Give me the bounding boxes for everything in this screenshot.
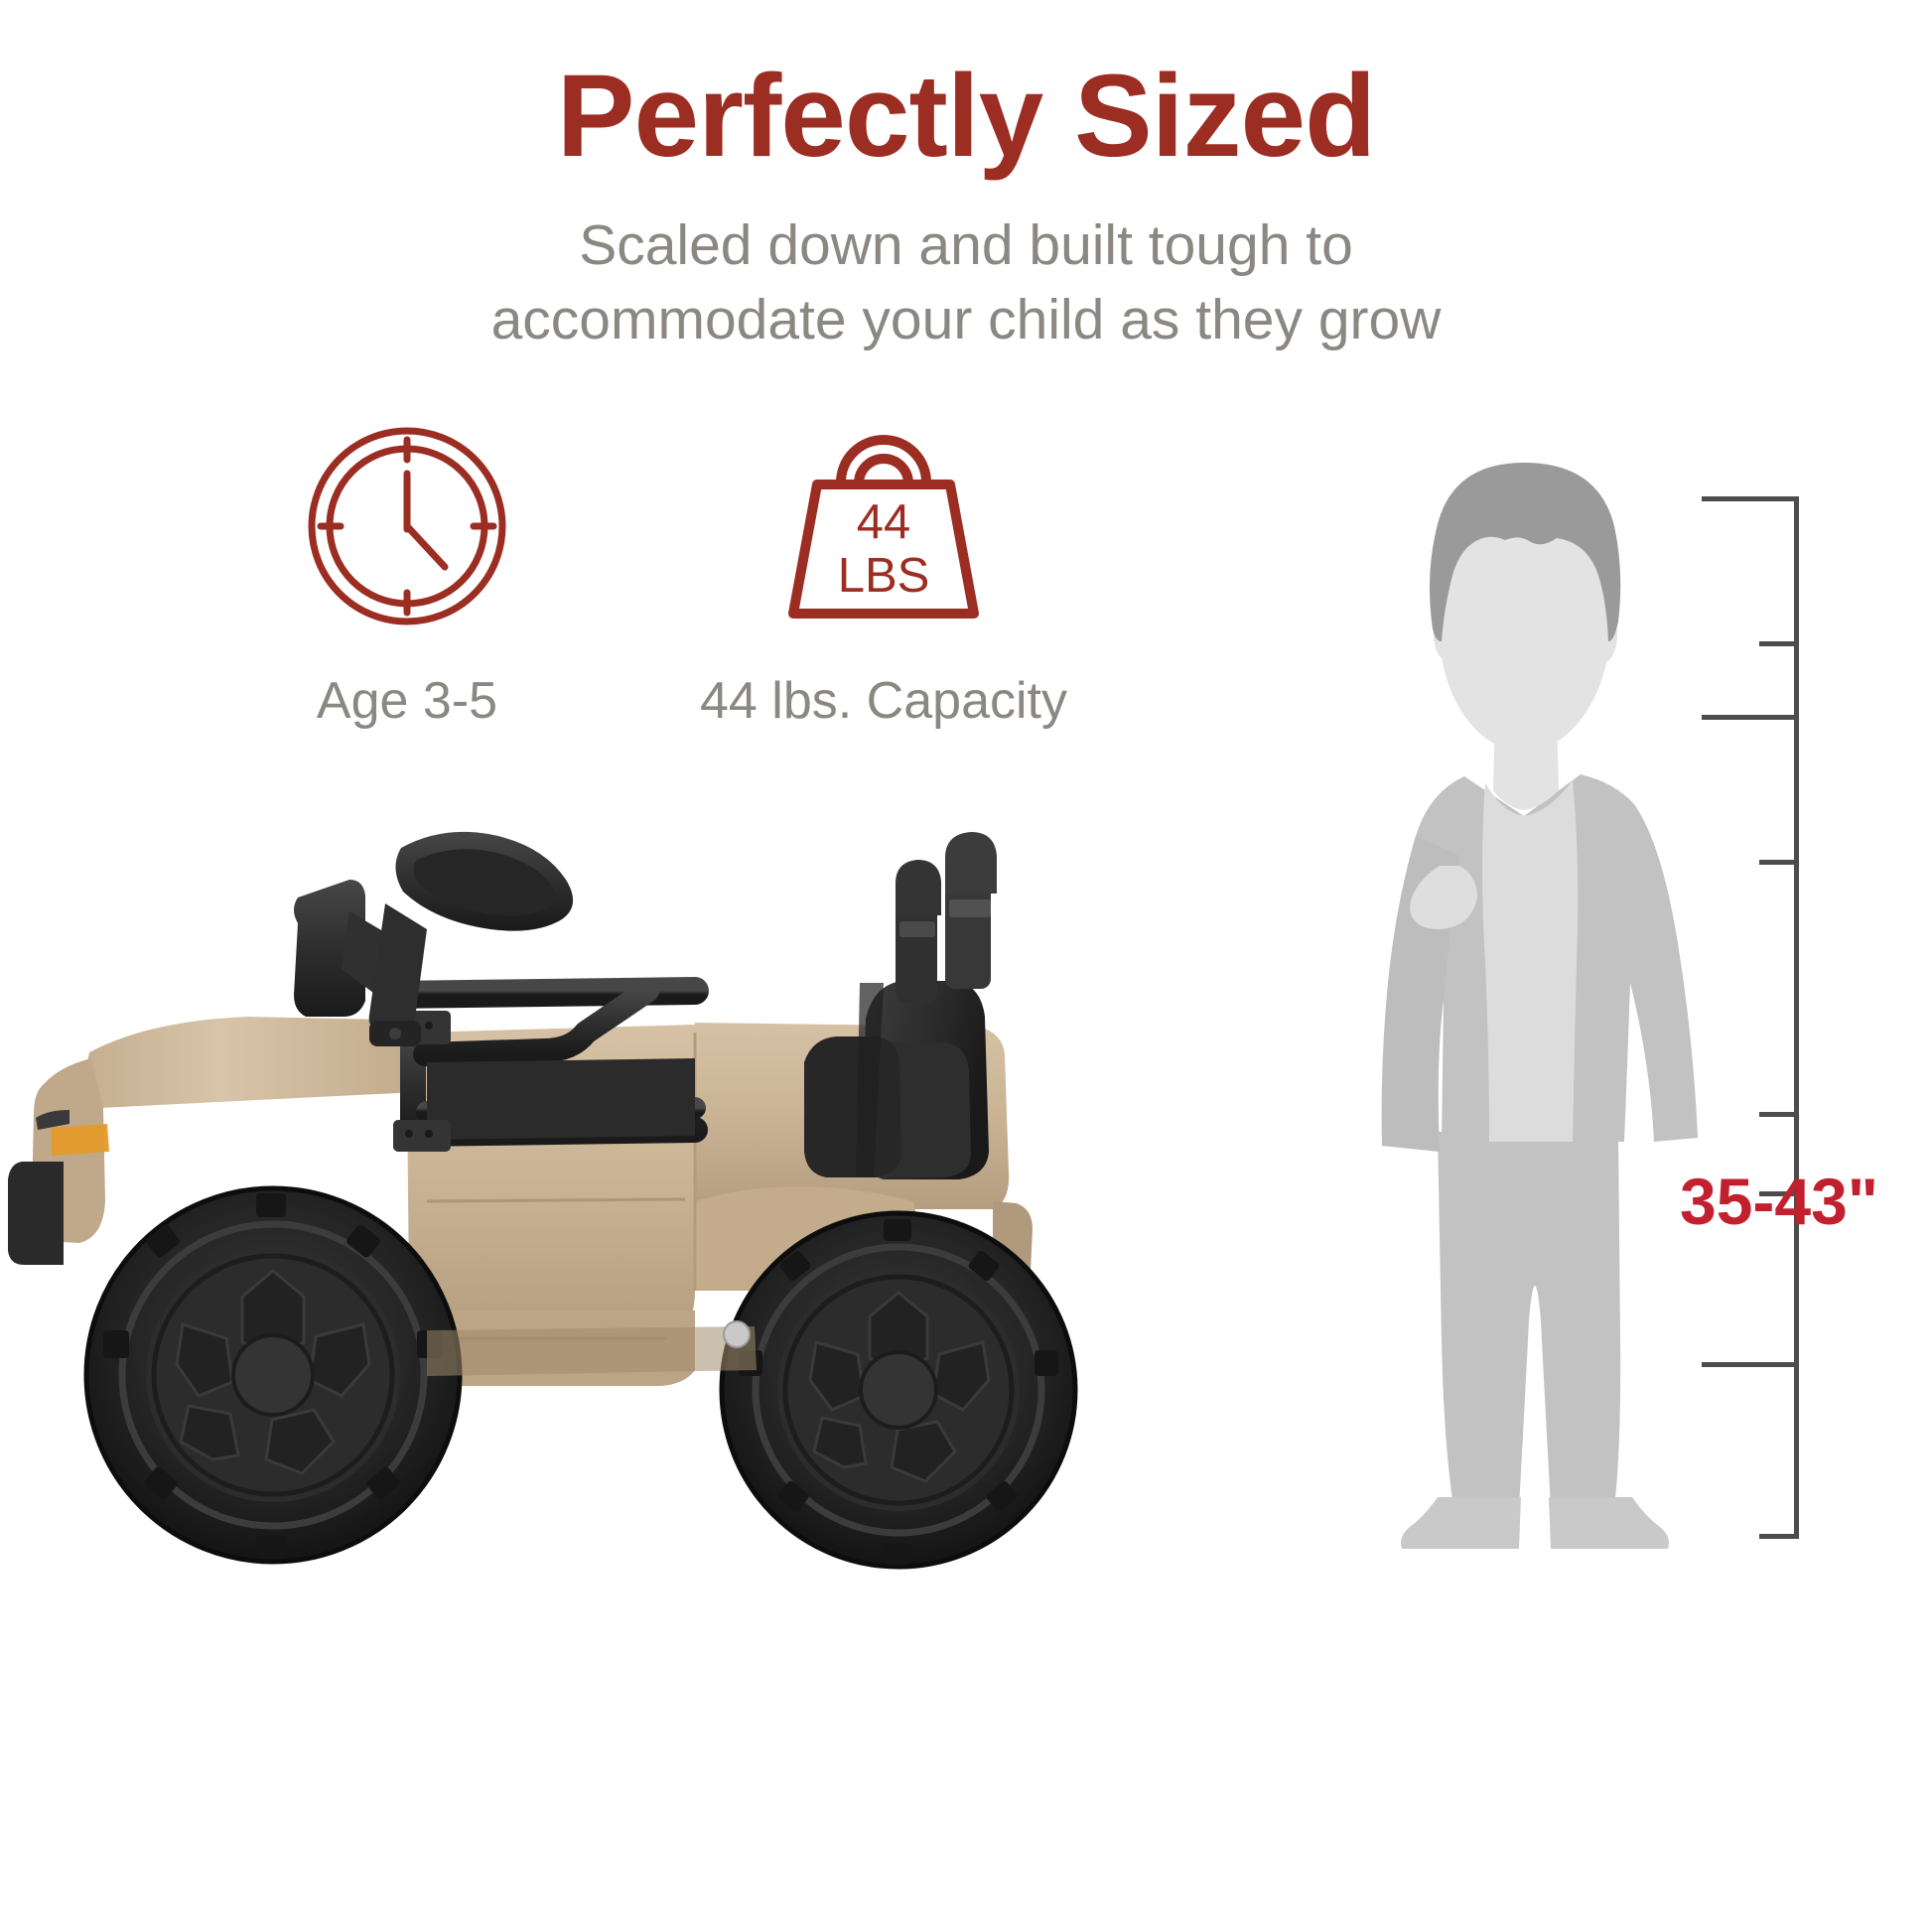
ruler-tick	[1759, 860, 1799, 865]
silhouette-shoe-left	[1401, 1497, 1521, 1549]
ruler-tick	[1702, 715, 1799, 720]
page-subtitle: Scaled down and built tough to accommoda…	[0, 208, 1932, 357]
silhouette-shirt	[1482, 780, 1578, 1142]
subtitle-line-2: accommodate your child as they grow	[0, 283, 1932, 357]
vehicle-door-panel	[427, 1058, 695, 1140]
feature-capacity-label: 44 lbs. Capacity	[665, 671, 1102, 731]
header: Perfectly Sized Scaled down and built to…	[0, 58, 1932, 357]
ruler-tick	[1759, 641, 1799, 646]
page-title: Perfectly Sized	[0, 58, 1932, 175]
rear-hubcap	[861, 1352, 936, 1428]
silhouette-shoe-right	[1549, 1497, 1669, 1549]
ruler-tick	[1759, 1112, 1799, 1117]
feature-age: Age 3-5	[189, 427, 625, 731]
ride-on-vehicle-image	[0, 735, 1221, 1588]
feature-capacity: 44 LBS 44 lbs. Capacity	[665, 427, 1102, 731]
side-knob	[724, 1321, 750, 1347]
feature-age-label: Age 3-5	[189, 671, 625, 731]
silhouette-pants	[1438, 1132, 1620, 1507]
bracket-lower	[393, 1120, 451, 1152]
ruler-spine	[1794, 496, 1799, 1539]
vehicle-seats	[804, 832, 997, 1179]
ruler-tick	[1702, 496, 1799, 501]
chassis-shadow	[427, 1326, 757, 1376]
ruler-tick	[1759, 1534, 1799, 1539]
front-wheel	[84, 1186, 462, 1564]
height-measurement-label: 35-43"	[1680, 1164, 1878, 1239]
ruler-tick	[1702, 1362, 1799, 1367]
clock-icon	[189, 427, 625, 625]
infographic-page: Perfectly Sized Scaled down and built to…	[0, 0, 1932, 1932]
weight-icon-value: 44	[857, 495, 911, 549]
child-silhouette	[1320, 447, 1718, 1559]
subtitle-line-1: Scaled down and built tough to	[0, 208, 1932, 283]
height-ruler	[1688, 496, 1817, 1539]
rear-wheel	[720, 1211, 1077, 1569]
front-hubcap	[233, 1335, 313, 1415]
weight-icon-unit: LBS	[838, 549, 930, 603]
weight-bag-icon: 44 LBS	[665, 427, 1102, 625]
